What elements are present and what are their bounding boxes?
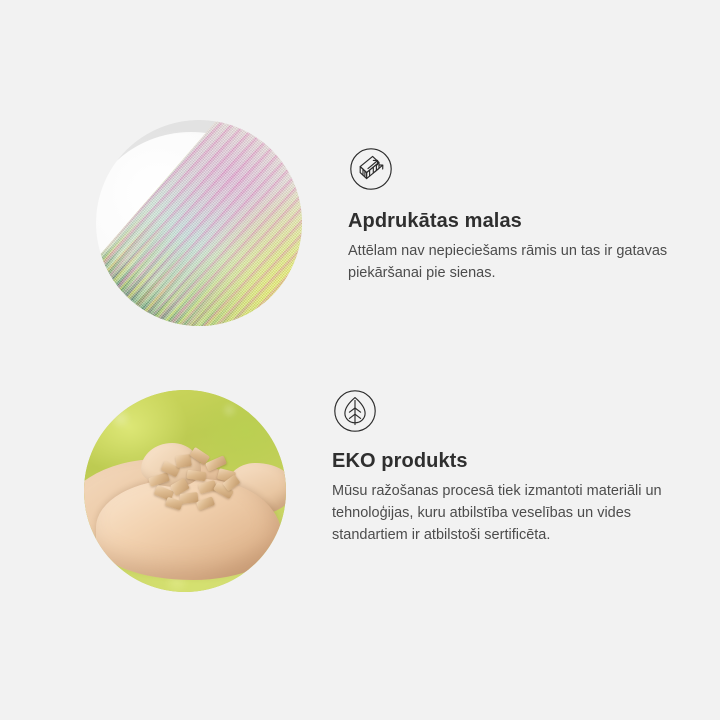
- canvas-wrapped-edge-icon: [348, 146, 394, 192]
- canvas-print-corner-photo: [96, 120, 302, 326]
- feature-description: Attēlam nav nepieciešams rāmis un tas ir…: [348, 240, 688, 284]
- hands-holding-wood-chips-photo: [84, 390, 286, 592]
- feature-title: Apdrukātas malas: [348, 210, 692, 233]
- feature-title: EKO produkts: [332, 450, 692, 473]
- feature-copy-printed-edges: Apdrukātas malas Attēlam nav nepieciešam…: [302, 118, 720, 284]
- wood-chips-pile: [145, 447, 250, 516]
- feature-copy-eco-product: EKO produkts Mūsu ražošanas procesā tiek…: [286, 388, 720, 546]
- product-features-page: Apdrukātas malas Attēlam nav nepieciešam…: [0, 0, 720, 720]
- feature-description: Mūsu ražošanas procesā tiek izmantoti ma…: [332, 480, 672, 546]
- feature-block-printed-edges: Apdrukātas malas Attēlam nav nepieciešam…: [0, 118, 720, 326]
- feature-block-eco-product: EKO produkts Mūsu ražošanas procesā tiek…: [0, 388, 720, 592]
- leaf-icon: [332, 388, 378, 434]
